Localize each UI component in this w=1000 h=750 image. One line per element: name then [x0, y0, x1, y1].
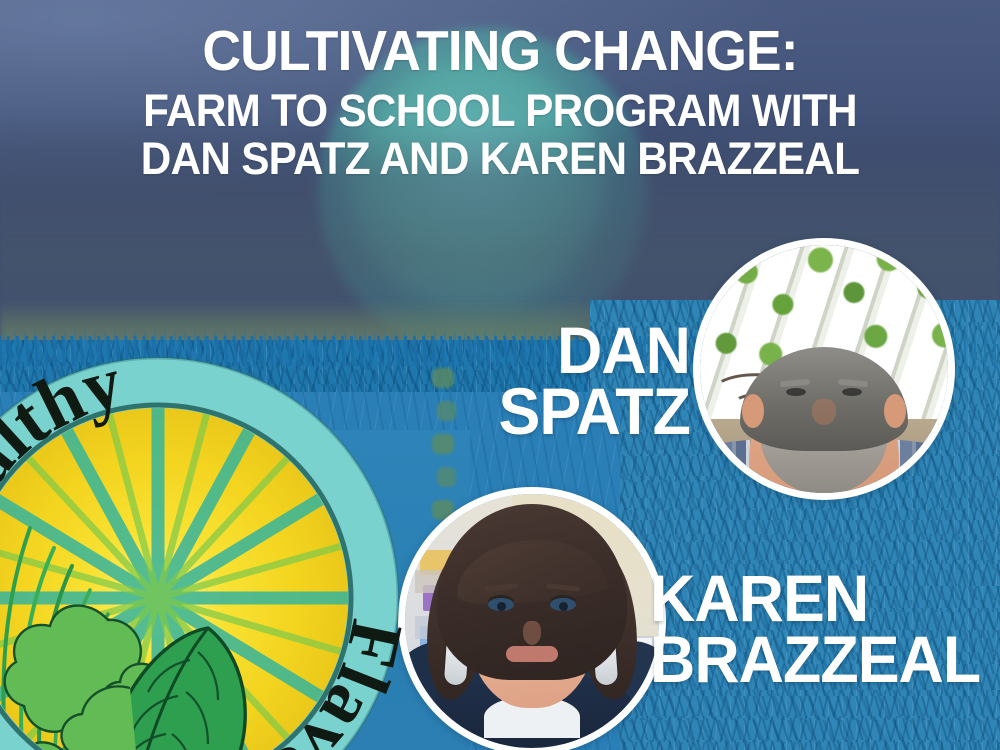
poster-title: CULTIVATING CHANGE: FARM TO SCHOOL PROGR…	[0, 22, 1000, 182]
speaker-photo-dan	[693, 238, 955, 500]
dan-eye-right	[842, 388, 862, 396]
dan-ear-right	[884, 394, 906, 428]
title-line-2: FARM TO SCHOOL PROGRAM WITH	[30, 88, 970, 134]
dan-nose	[812, 399, 836, 425]
speaker-photo-dan-inner	[700, 245, 948, 493]
speaker-photo-karen-inner	[405, 494, 659, 748]
speaker-name-dan: DAN SPATZ	[453, 320, 691, 441]
speaker-karen-first-name: KAREN	[650, 568, 983, 629]
karen-smile	[506, 646, 558, 662]
title-line-3: DAN SPATZ AND KAREN BRAZZEAL	[30, 136, 970, 182]
karen-pupil-left	[497, 602, 506, 611]
dan-eye-left	[786, 388, 806, 396]
speaker-karen-last-name: BRAZZEAL	[650, 629, 983, 690]
speaker-photo-karen	[398, 487, 666, 750]
speaker-name-karen: KAREN BRAZZEAL	[650, 568, 983, 689]
podcast-episode-poster: CULTIVATING CHANGE: FARM TO SCHOOL PROGR…	[0, 0, 1000, 750]
dan-ear-left	[742, 394, 764, 428]
karen-nose	[523, 621, 541, 645]
speaker-dan-last-name: SPATZ	[453, 381, 691, 442]
title-line-1: CULTIVATING CHANGE:	[30, 22, 970, 80]
karen-photo-scene	[405, 494, 659, 748]
speaker-dan-first-name: DAN	[453, 320, 691, 381]
healthy-flavors-logo: Healthy Flavors	[0, 352, 404, 750]
karen-pupil-right	[559, 602, 568, 611]
dan-photo-scene	[700, 245, 948, 493]
